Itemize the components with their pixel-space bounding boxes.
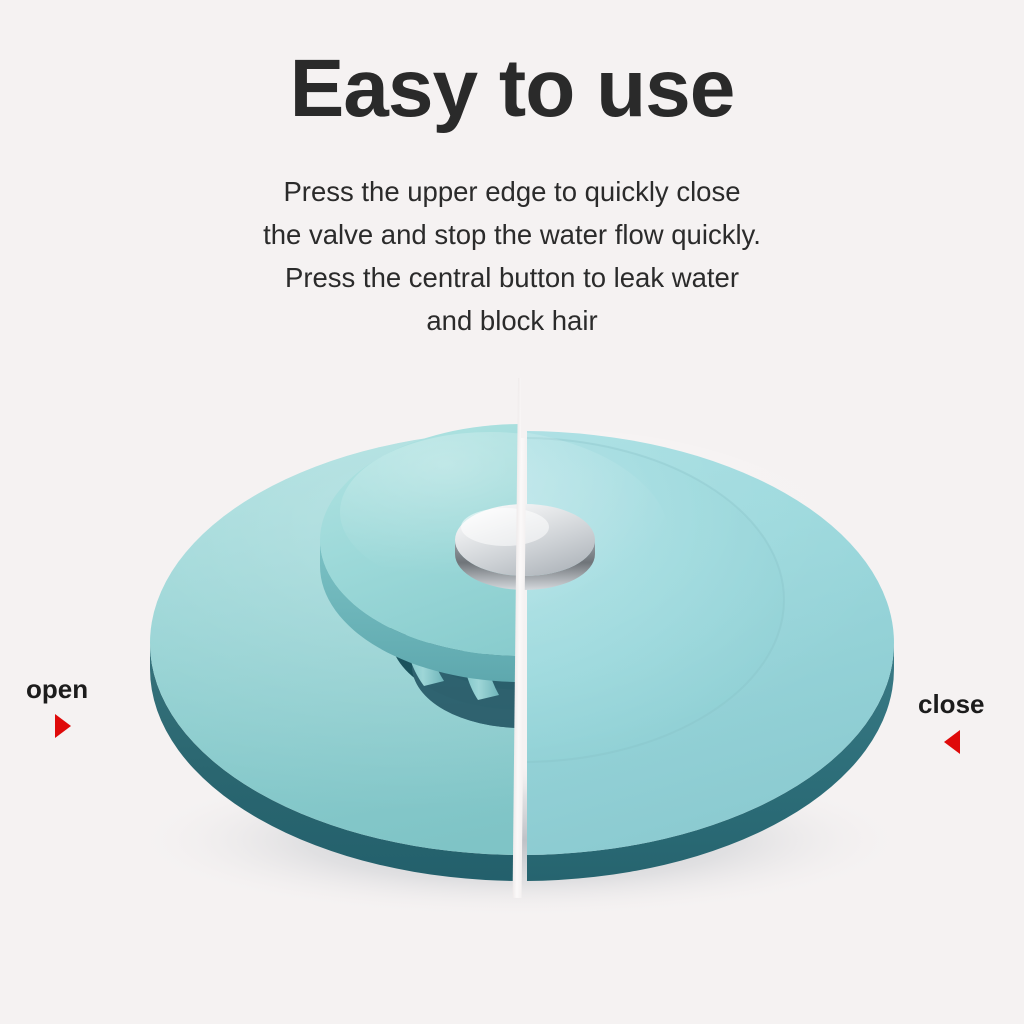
arrow-right-icon bbox=[55, 714, 71, 738]
page-title: Easy to use bbox=[0, 48, 1024, 130]
central-button-highlight bbox=[461, 508, 549, 546]
infographic-canvas: Easy to use Press the upper edge to quic… bbox=[0, 0, 1024, 1024]
label-close: close bbox=[918, 689, 985, 720]
arrow-left-icon bbox=[944, 730, 960, 754]
page-description: Press the upper edge to quickly close th… bbox=[262, 170, 762, 342]
split-divider-top bbox=[521, 378, 527, 438]
label-open: open bbox=[26, 674, 88, 705]
